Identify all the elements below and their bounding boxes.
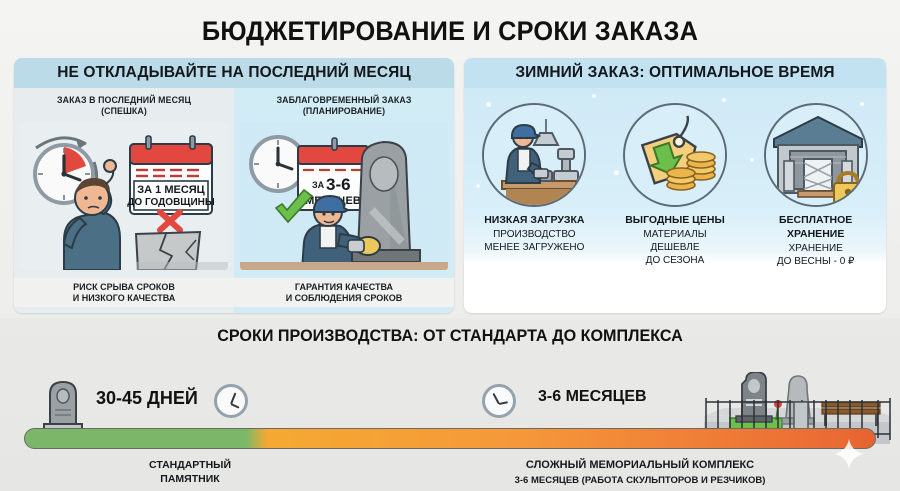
timeline-left-caption-line2: ПАМЯТНИК [160, 473, 219, 485]
panel-deadline-warning: НЕ ОТКЛАДЫВАЙТЕ НА ПОСЛЕДНИЙ МЕСЯЦ ЗАКАЗ… [14, 58, 454, 313]
column-planned-order: ЗАБЛАГОВРЕМЕННЫЙ ЗАКАЗ (ПЛАНИРОВАНИЕ) [234, 88, 454, 313]
timeline-left-caption: СТАНДАРТНЫЙ ПАМЯТНИК [60, 458, 320, 486]
column-planned-caption-line1: ГАРАНТИЯ КАЧЕСТВА [295, 282, 393, 292]
column-rush-subtitle: ЗАКАЗ В ПОСЛЕДНИЙ МЕСЯЦ (СПЕШКА) [14, 88, 234, 117]
panel-winter-order: ЗИМНИЙ ЗАКАЗ: ОПТИМАЛЬНОЕ ВРЕМЯ [464, 58, 886, 313]
panel-left-columns: ЗАКАЗ В ПОСЛЕДНИЙ МЕСЯЦ (СПЕШКА) [14, 88, 454, 313]
production-timeline-section: СРОКИ ПРОИЗВОДСТВА: ОТ СТАНДАРТА ДО КОМП… [0, 318, 900, 491]
standard-headstone-icon [40, 378, 86, 432]
column-planned-subtitle-line1: ЗАБЛАГОВРЕМЕННЫЙ ЗАКАЗ [277, 95, 412, 105]
timeline-right-caption-line1: СЛОЖНЫЙ МЕМОРИАЛЬНЫЙ КОМПЛЕКС [526, 459, 754, 471]
column-planned-subtitle-line2: (ПЛАНИРОВАНИЕ) [303, 106, 385, 116]
benefit-line-storage-2: ДО ВЕСНЫ - 0 ₽ [751, 255, 881, 268]
clock-icon-left [214, 384, 248, 418]
benefit-title-storage-2: ХРАНЕНИЕ [751, 228, 881, 242]
illustration-stonemason-scene: ЗА 3-6 МЕСЯЦЕВ [240, 122, 448, 270]
benefit-captions-row: НИЗКАЯ ЗАГРУЗКА ПРОИЗВОДСТВО МЕНЕЕ ЗАГРУ… [464, 214, 886, 268]
column-planned-caption-line2: И СОБЛЮДЕНИЯ СРОКОВ [286, 293, 403, 303]
panels-row: НЕ ОТКЛАДЫВАЙТЕ НА ПОСЛЕДНИЙ МЕСЯЦ ЗАКАЗ… [14, 58, 886, 313]
timeline-right-value: 3-6 МЕСЯЦЕВ [538, 388, 647, 406]
illustration-worried-man-scene: ЗА 1 МЕСЯЦ ДО ГОДОВЩИНЫ [20, 122, 228, 270]
benefit-line-load-2: МЕНЕЕ ЗАГРУЖЕНО [469, 241, 599, 254]
column-planned-caption: ГАРАНТИЯ КАЧЕСТВА И СОБЛЮДЕНИЯ СРОКОВ [234, 278, 454, 307]
calendar-rush-line1: ЗА 1 МЕСЯЦ [137, 184, 204, 196]
column-rush-subtitle-line1: ЗАКАЗ В ПОСЛЕДНИЙ МЕСЯЦ [57, 95, 191, 105]
column-rush-caption: РИСК СРЫВА СРОКОВ И НИЗКОГО КАЧЕСТВА [14, 278, 234, 307]
calendar-rush-line2: ДО ГОДОВЩИНЫ [127, 197, 215, 208]
benefit-title-load: НИЗКАЯ ЗАГРУЗКА [469, 214, 599, 228]
benefit-line-storage-1: ХРАНЕНИЕ [751, 242, 881, 255]
infographic-page: БЮДЖЕТИРОВАНИЕ И СРОКИ ЗАКАЗА НЕ ОТКЛАДЫ… [0, 0, 900, 491]
calendar-plan-line1: 3-6 [326, 175, 351, 194]
benefit-title-storage-1: БЕСПЛАТНОЕ [751, 214, 881, 228]
panel-right-header-text: ЗИМНИЙ ЗАКАЗ: ОПТИМАЛЬНОЕ ВРЕМЯ [515, 64, 834, 82]
benefit-title-price: ВЫГОДНЫЕ ЦЕНЫ [610, 214, 740, 228]
timeline-left-value: 30-45 ДНЕЙ [96, 388, 198, 409]
sparkle-icon [834, 439, 864, 469]
column-rush-order: ЗАКАЗ В ПОСЛЕДНИЙ МЕСЯЦ (СПЕШКА) [14, 88, 234, 313]
clock-icon-right [482, 384, 516, 418]
timeline-chart: 30-45 ДНЕЙ 3-6 МЕСЯЦЕВ [0, 370, 900, 491]
timeline-right-caption: СЛОЖНЫЙ МЕМОРИАЛЬНЫЙ КОМПЛЕКС 3-6 МЕСЯЦЕ… [430, 458, 850, 488]
benefit-line-price-1: МАТЕРИАЛЫ [610, 228, 740, 241]
benefit-line-price-3: ДО СЕЗОНА [610, 254, 740, 267]
benefit-icons-row [464, 96, 886, 214]
column-rush-caption-line1: РИСК СРЫВА СРОКОВ [73, 282, 175, 292]
warehouse-lock-icon [764, 103, 868, 207]
column-rush-caption-line2: И НИЗКОГО КАЧЕСТВА [73, 293, 176, 303]
panel-right-body: НИЗКАЯ ЗАГРУЗКА ПРОИЗВОДСТВО МЕНЕЕ ЗАГРУ… [464, 88, 886, 313]
timeline-gradient-bar [24, 428, 876, 449]
worried-man-illustration: ЗА 1 МЕСЯЦ ДО ГОДОВЩИНЫ [20, 122, 228, 270]
timeline-header: СРОКИ ПРОИЗВОДСТВА: ОТ СТАНДАРТА ДО КОМП… [23, 318, 878, 346]
timeline-left-caption-line1: СТАНДАРТНЫЙ [149, 459, 231, 471]
timeline-right-caption-line2: 3-6 МЕСЯЦЕВ (РАБОТА СКУЛЬПТОРОВ И РЕЗЧИК… [515, 475, 766, 486]
workshop-worker-icon [482, 103, 586, 207]
price-tag-discount-icon [623, 103, 727, 207]
benefit-line-price-2: ДЕШЕВЛЕ [610, 241, 740, 254]
benefit-caption-load: НИЗКАЯ ЗАГРУЗКА ПРОИЗВОДСТВО МЕНЕЕ ЗАГРУ… [469, 214, 599, 268]
column-rush-subtitle-line2: (СПЕШКА) [101, 106, 147, 116]
stonemason-illustration: ЗА 3-6 МЕСЯЦЕВ [240, 122, 448, 270]
benefit-line-load-1: ПРОИЗВОДСТВО [469, 228, 599, 241]
benefit-caption-storage: БЕСПЛАТНОЕ ХРАНЕНИЕ ХРАНЕНИЕ ДО ВЕСНЫ - … [751, 214, 881, 268]
panel-right-header: ЗИМНИЙ ЗАКАЗ: ОПТИМАЛЬНОЕ ВРЕМЯ [464, 58, 886, 88]
calendar-plan-prefix: ЗА [312, 180, 325, 190]
panel-left-header: НЕ ОТКЛАДЫВАЙТЕ НА ПОСЛЕДНИЙ МЕСЯЦ [14, 58, 454, 88]
column-planned-subtitle: ЗАБЛАГОВРЕМЕННЫЙ ЗАКАЗ (ПЛАНИРОВАНИЕ) [234, 88, 454, 117]
page-title: БЮДЖЕТИРОВАНИЕ И СРОКИ ЗАКАЗА [27, 16, 873, 47]
benefit-caption-price: ВЫГОДНЫЕ ЦЕНЫ МАТЕРИАЛЫ ДЕШЕВЛЕ ДО СЕЗОН… [610, 214, 740, 268]
